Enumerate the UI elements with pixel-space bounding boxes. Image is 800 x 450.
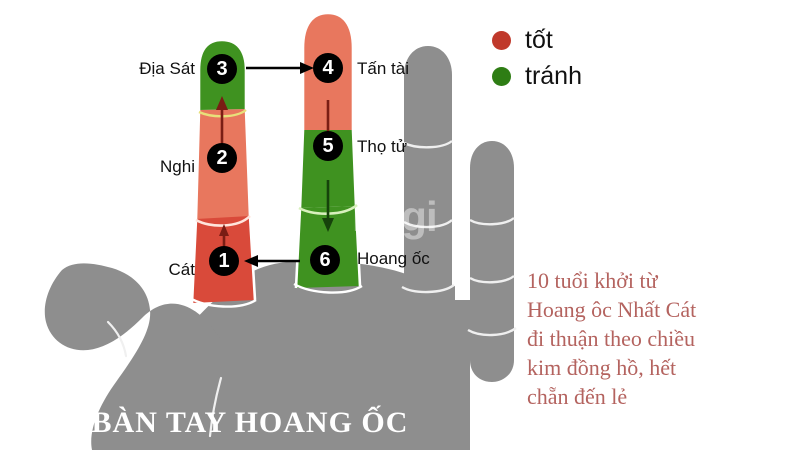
label-tan-tai: Tấn tài: [357, 60, 409, 77]
step-marker-3[interactable]: 3: [207, 54, 237, 84]
label-cat: Cát: [120, 261, 195, 278]
label-nghi: Nghi: [120, 158, 195, 175]
pinky-finger: [468, 141, 516, 382]
red-dot-icon: [492, 31, 511, 50]
legend-item-tot: tốt: [492, 22, 582, 58]
legend-item-tranh: tránh: [492, 58, 582, 94]
arrow-3-to-4: [246, 62, 314, 74]
step-marker-4[interactable]: 4: [313, 53, 343, 83]
green-dot-icon: [492, 67, 511, 86]
ring-finger-shape: [404, 46, 452, 354]
page-title: BÀN TAY HOANG ỐC: [0, 406, 500, 440]
legend-label-tranh: tránh: [525, 64, 582, 89]
ring-finger: [402, 46, 454, 354]
pinky-finger-shape: [470, 141, 514, 382]
label-hoang-oc: Hoang ốc: [357, 250, 430, 267]
step-marker-1[interactable]: 1: [209, 246, 239, 276]
instruction-note: 10 tuổi khởi từ Hoang ôc Nhất Cát đi thu…: [527, 266, 777, 411]
legend-label-tot: tốt: [525, 28, 553, 53]
hoang-oc-hand-diagram: 1 2 3 4 5 6 Địa Sát Nghi Cát Tấn tài Thọ…: [0, 0, 800, 450]
step-marker-5[interactable]: 5: [313, 131, 343, 161]
legend: tốt tránh: [492, 22, 582, 94]
ring-pinky-notch: [455, 150, 470, 300]
step-marker-2[interactable]: 2: [207, 143, 237, 173]
label-dia-sat: Địa Sát: [120, 60, 195, 77]
step-marker-6[interactable]: 6: [310, 245, 340, 275]
label-tho-tu: Thọ tử: [357, 138, 407, 155]
